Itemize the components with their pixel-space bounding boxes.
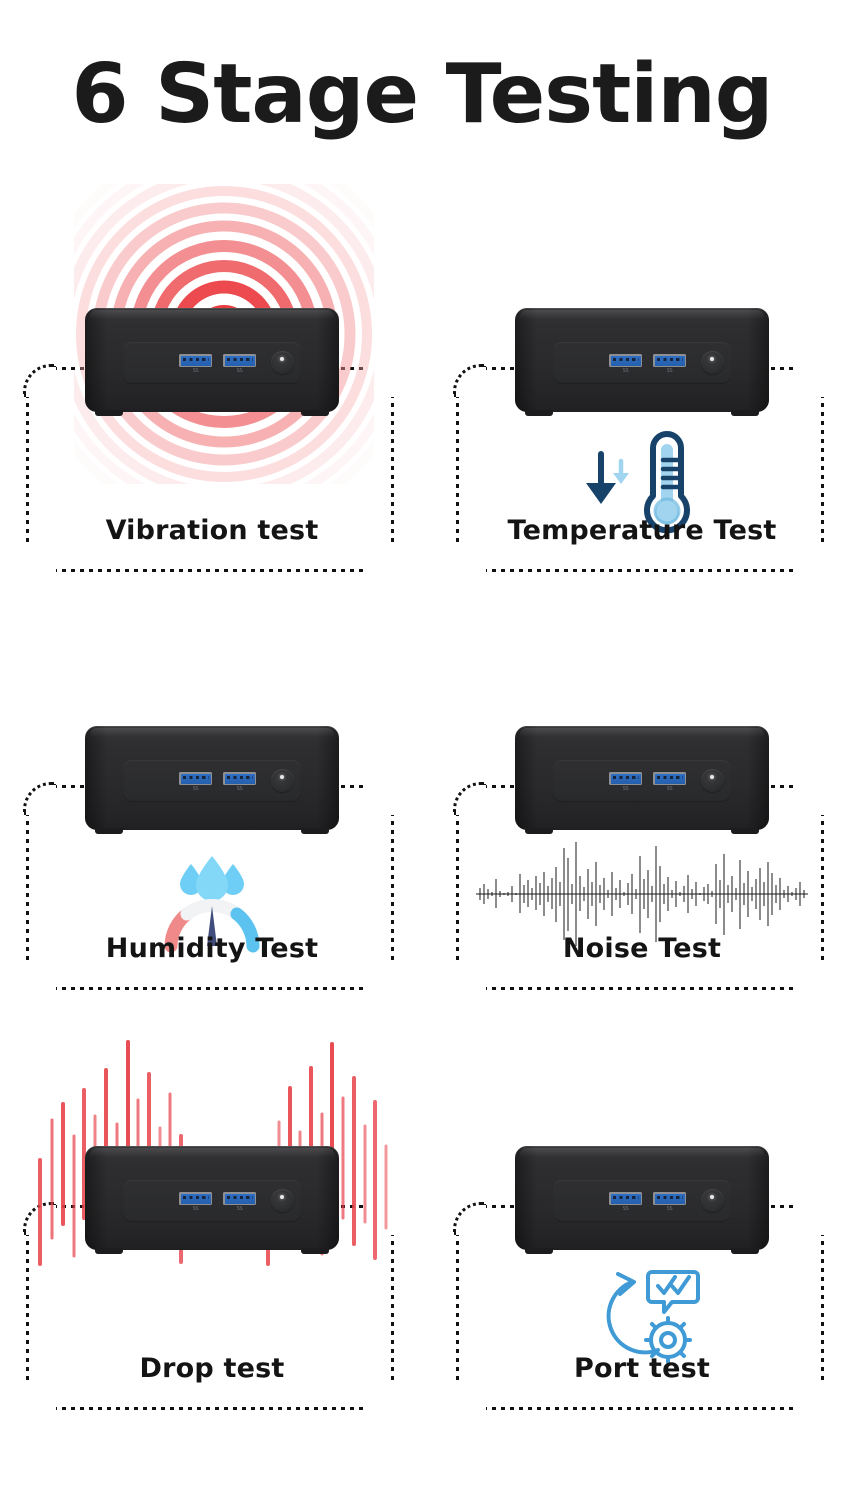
frame-corner (794, 364, 827, 397)
usb-port-icon (609, 1192, 642, 1205)
testing-stages-grid: SS SS Vibration test (0, 190, 844, 1440)
usb-ss-label: SS (223, 1207, 256, 1212)
usb-port-icon (609, 772, 642, 785)
device-foot (731, 828, 759, 834)
device-body: SS SS (85, 1146, 339, 1250)
device-port-panel: SS SS (123, 1180, 301, 1222)
frame-corner (364, 542, 397, 575)
frame-corner (453, 364, 486, 397)
device-foot (525, 828, 553, 834)
frame-corner (23, 542, 56, 575)
device-top-bevel (520, 310, 764, 319)
device-port-panel: SS SS (553, 760, 731, 802)
usb-ss-label: SS (653, 369, 686, 374)
frame-corner (453, 542, 486, 575)
device-top-bevel (520, 728, 764, 737)
frame-corner (453, 1380, 486, 1413)
usb-port-icon (223, 354, 256, 367)
usb-ss-label: SS (653, 787, 686, 792)
device-port-panel: SS SS (123, 760, 301, 802)
usb-port-icon (653, 772, 686, 785)
power-button-icon (701, 769, 724, 792)
mini-pc-device: SS SS (85, 308, 339, 412)
frame-corner (364, 782, 397, 815)
frame-corner (794, 542, 827, 575)
device-foot (731, 410, 759, 416)
card-label-drop: Drop test (22, 1353, 402, 1384)
frame-corner (23, 960, 56, 993)
device-port-panel: SS SS (553, 342, 731, 384)
device-foot (301, 1248, 329, 1254)
device-top-bevel (90, 310, 334, 319)
device-body: SS SS (515, 1146, 769, 1250)
usb-port-icon (179, 354, 212, 367)
usb-port-icon (653, 354, 686, 367)
device-port-panel: SS SS (123, 342, 301, 384)
frame-corner (794, 782, 827, 815)
frame-corner (794, 1380, 827, 1413)
mini-pc-device: SS SS (85, 1146, 339, 1250)
card-port: SS SS (452, 1028, 832, 1410)
device-foot (525, 1248, 553, 1254)
usb-ss-label: SS (179, 787, 212, 792)
usb-port-icon (609, 354, 642, 367)
frame-corner (364, 1380, 397, 1413)
usb-ss-label: SS (609, 1207, 642, 1212)
power-button-icon (271, 1189, 294, 1212)
device-body: SS SS (85, 308, 339, 412)
usb-port-icon (179, 772, 212, 785)
usb-ss-label: SS (609, 787, 642, 792)
frame-corner (23, 364, 56, 397)
usb-ss-label: SS (223, 787, 256, 792)
device-foot (95, 828, 123, 834)
mini-pc-device: SS SS (515, 1146, 769, 1250)
card-label-port: Port test (452, 1353, 832, 1384)
device-foot (525, 410, 553, 416)
device-foot (95, 410, 123, 416)
device-foot (301, 828, 329, 834)
power-button-icon (701, 1189, 724, 1212)
device-port-panel: SS SS (553, 1180, 731, 1222)
device-body: SS SS (515, 726, 769, 830)
usb-port-icon (223, 772, 256, 785)
card-temperature: SS SS (452, 190, 832, 572)
usb-ss-label: SS (179, 369, 212, 374)
device-foot (731, 1248, 759, 1254)
device-top-bevel (520, 1148, 764, 1157)
device-foot (95, 1248, 123, 1254)
usb-port-icon (179, 1192, 212, 1205)
frame-corner (794, 1202, 827, 1235)
usb-ss-label: SS (179, 1207, 212, 1212)
device-body: SS SS (85, 726, 339, 830)
frame-corner (23, 1380, 56, 1413)
device-body: SS SS (515, 308, 769, 412)
frame-corner (794, 960, 827, 993)
card-vibration: SS SS Vibration test (22, 190, 402, 572)
usb-port-icon (223, 1192, 256, 1205)
usb-port-icon (653, 1192, 686, 1205)
frame-corner (453, 782, 486, 815)
mini-pc-device: SS SS (515, 308, 769, 412)
device-foot (301, 410, 329, 416)
page-title: 6 Stage Testing (0, 54, 844, 136)
frame-corner (23, 782, 56, 815)
usb-ss-label: SS (223, 369, 256, 374)
device-top-bevel (90, 1148, 334, 1157)
frame-corner (453, 1202, 486, 1235)
device-top-bevel (90, 728, 334, 737)
card-noise: SS SS (452, 608, 832, 990)
usb-ss-label: SS (653, 1207, 686, 1212)
card-label-noise: Noise Test (452, 933, 832, 964)
frame-corner (453, 960, 486, 993)
power-button-icon (701, 351, 724, 374)
mini-pc-device: SS SS (85, 726, 339, 830)
usb-ss-label: SS (609, 369, 642, 374)
card-humidity: SS SS (22, 608, 402, 990)
card-drop: SS SS Drop test (22, 1028, 402, 1410)
power-button-icon (271, 351, 294, 374)
power-button-icon (271, 769, 294, 792)
card-label-temperature: Temperature Test (452, 515, 832, 546)
frame-corner (364, 960, 397, 993)
mini-pc-device: SS SS (515, 726, 769, 830)
card-label-vibration: Vibration test (22, 515, 402, 546)
card-label-humidity: Humidity Test (22, 933, 402, 964)
